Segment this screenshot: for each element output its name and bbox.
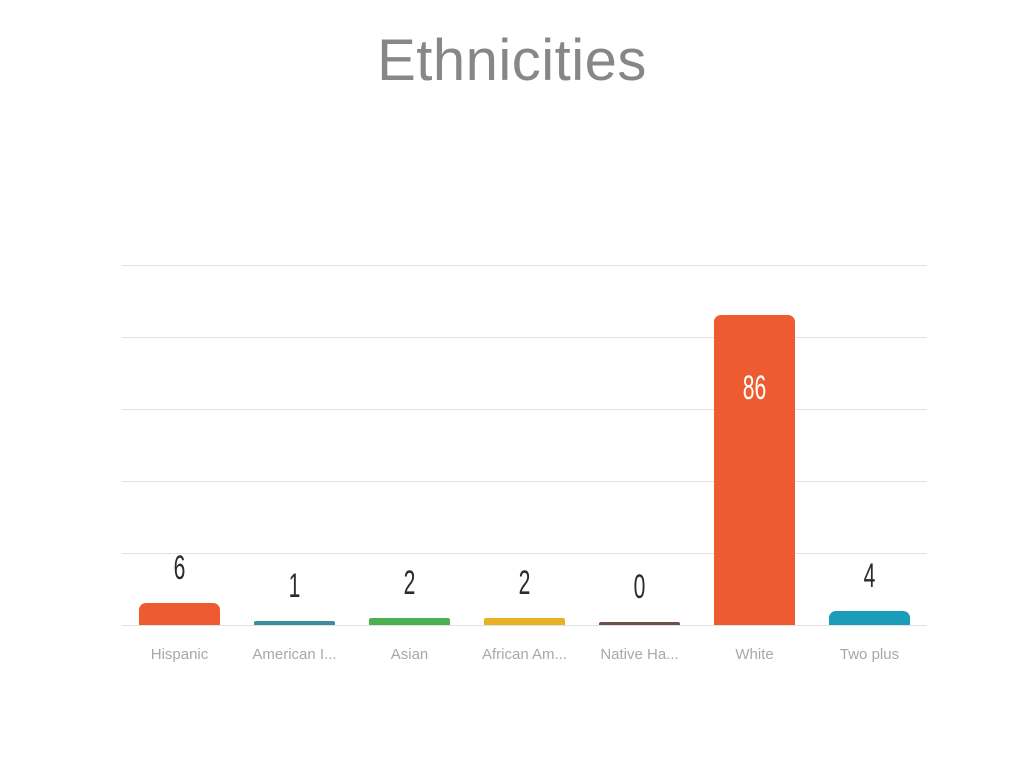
bar-value-label: 4: [844, 559, 894, 593]
bar-group[interactable]: 6: [139, 265, 220, 625]
bar-value-label: 2: [384, 566, 434, 600]
bar-group[interactable]: 86: [714, 265, 795, 625]
bar[interactable]: [829, 611, 910, 625]
bar[interactable]: [254, 621, 335, 625]
bar[interactable]: [599, 622, 680, 625]
x-axis: HispanicAmerican I...AsianAfrican Am...N…: [122, 646, 927, 676]
chart-title: Ethnicities: [0, 28, 1024, 95]
gridline: [122, 625, 927, 626]
bar-group[interactable]: 4: [829, 265, 910, 625]
chart-container: Ethnicities 1000 61220864 HispanicAmeric…: [0, 0, 1024, 768]
bar-group[interactable]: 2: [369, 265, 450, 625]
x-axis-tick-label: Two plus: [790, 646, 950, 663]
bar[interactable]: [484, 618, 565, 625]
bar[interactable]: [139, 603, 220, 625]
bars-layer: 61220864: [122, 265, 927, 625]
bar[interactable]: [369, 618, 450, 625]
bar-group[interactable]: 1: [254, 265, 335, 625]
bar-value-label: 1: [269, 569, 319, 603]
bar-value-label: 0: [614, 570, 664, 604]
bar-group[interactable]: 0: [599, 265, 680, 625]
bar-value-label: 86: [729, 371, 779, 405]
bar[interactable]: [714, 315, 795, 625]
bar-group[interactable]: 2: [484, 265, 565, 625]
bar-value-label: 2: [499, 566, 549, 600]
bar-value-label: 6: [154, 551, 204, 585]
